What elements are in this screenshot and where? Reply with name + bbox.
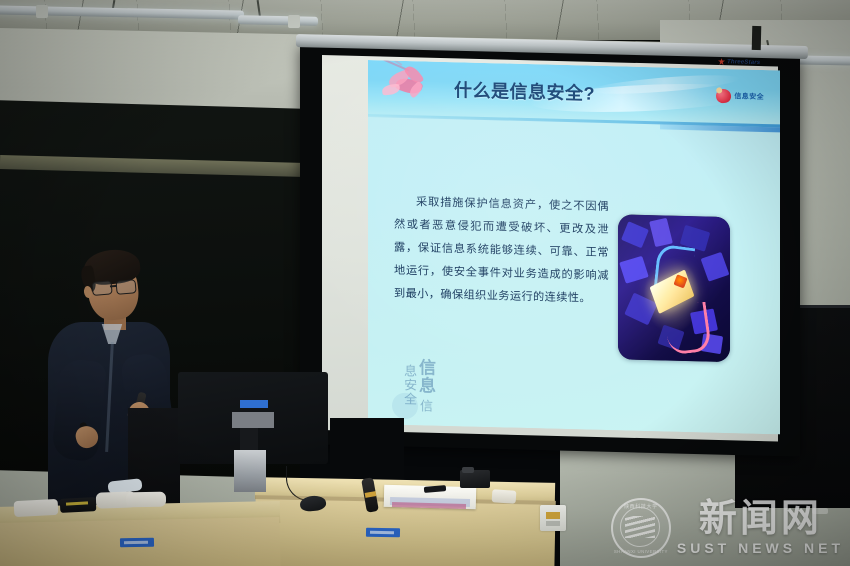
projected-slide: 什么是信息安全? 信息安全 采取措施保护信息资产，使之不因偶然或者恶意侵犯而遭受… <box>368 60 780 434</box>
slide-canvas: 什么是信息安全? 信息安全 采取措施保护信息资产，使之不因偶然或者恶意侵犯而遭受… <box>368 60 780 434</box>
outlet-socket <box>546 521 560 526</box>
monitor-spec-plate <box>232 412 274 428</box>
tissue-packet <box>126 492 166 508</box>
lotus-flower-icon <box>374 60 448 118</box>
slide-body-text: 采取措施保护信息资产，使之不因偶然或者恶意侵犯而遭受破坏、更改及泄露，保证信息系… <box>394 191 609 311</box>
university-seal-icon: 陕西科技大学 SHAANXI UNIVERSITY <box>611 498 671 558</box>
star-icon <box>718 58 725 65</box>
glasses-right-lens <box>116 279 137 295</box>
slide-watermark-big-text: 信息 <box>416 358 435 394</box>
tissue-packet <box>14 499 59 517</box>
monitor-stand <box>234 450 266 492</box>
tube-light-cap <box>288 15 300 28</box>
slide-watermark: 信息 信息安全 <box>382 354 434 415</box>
seal-bottom-text: SHAANXI UNIVERSITY <box>613 549 669 554</box>
news-watermark-chinese: 新闻网 <box>699 500 822 538</box>
eyeglasses-icon <box>92 278 139 295</box>
camera-lens-icon <box>462 467 474 473</box>
desk-asset-tag <box>366 528 400 538</box>
news-watermark-text: 新闻网 SUST NEWS NET <box>677 500 844 556</box>
seal-top-text: 陕西科技大学 <box>613 503 669 510</box>
slide-figure-image <box>618 214 730 362</box>
fluorescent-tube-light <box>238 15 318 26</box>
eraser-on-desk <box>492 489 517 504</box>
screen-mount-bracket <box>752 26 762 50</box>
flower-petal <box>381 84 400 96</box>
glasses-left-lens <box>92 280 113 296</box>
monitor-brand-label <box>240 400 268 408</box>
desk-asset-tag <box>120 538 154 548</box>
slide-title: 什么是信息安全? <box>454 76 595 106</box>
projector-brand-label: ThreeStars <box>727 59 760 66</box>
slide-logo-label: 信息安全 <box>734 91 764 102</box>
seal-emblem-lines <box>625 516 655 538</box>
outlet-socket <box>546 512 560 519</box>
slide-corner-logo: 信息安全 <box>716 89 764 104</box>
tube-light-cap <box>36 5 48 18</box>
projector-screen-brand: ThreeStars <box>718 58 761 66</box>
news-watermark: 陕西科技大学 SHAANXI UNIVERSITY 新闻网 SUST NEWS … <box>611 498 844 558</box>
heart-logo-icon <box>715 88 732 104</box>
news-watermark-english: SUST NEWS NET <box>677 540 844 556</box>
lecture-hall-screenshot: ThreeStars 什么是信息安全? 信息安全 <box>0 0 850 566</box>
